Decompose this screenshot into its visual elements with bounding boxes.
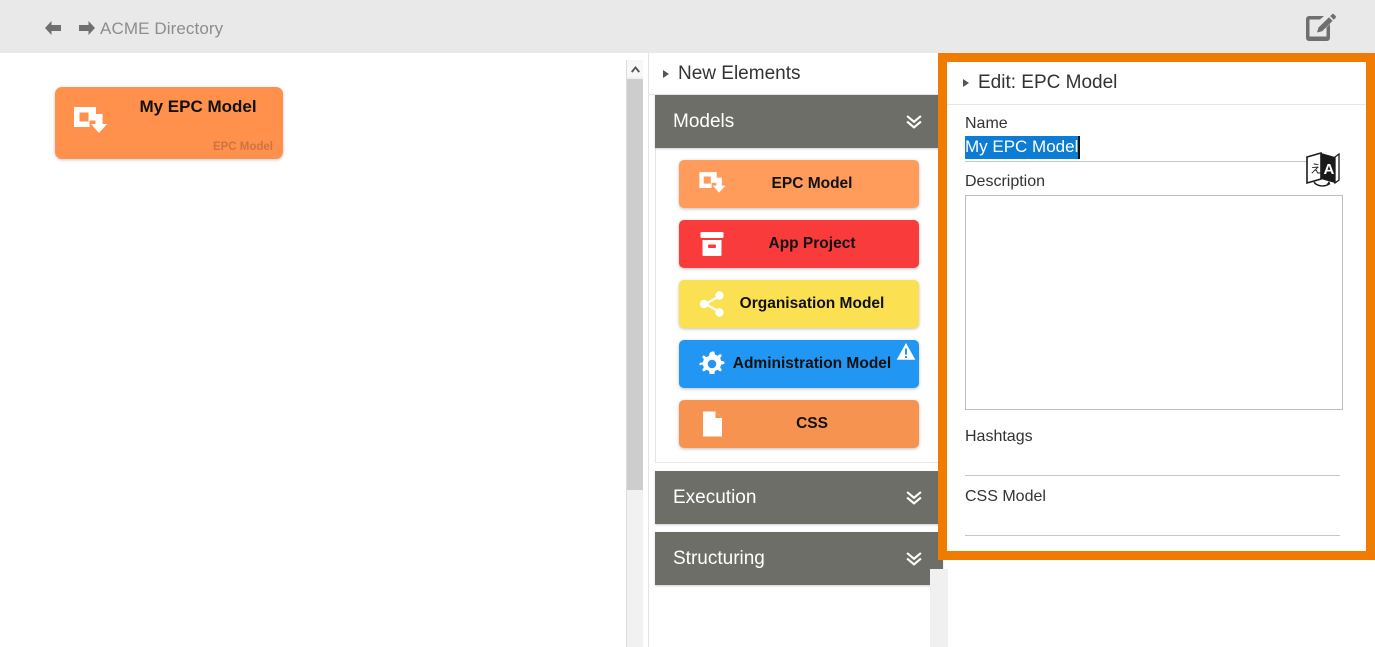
panel-gutter: [930, 569, 948, 647]
share-nodes-icon: [697, 289, 727, 319]
palette-group-models-body: EPC Model App Project: [655, 148, 943, 463]
warning-triangle-icon: [896, 342, 916, 361]
tile-title: My EPC Model: [121, 97, 275, 117]
gear-icon: [697, 349, 727, 379]
triangle-right-icon[interactable]: [663, 70, 669, 78]
tile-subtitle: EPC Model: [213, 141, 273, 153]
palette-item-css[interactable]: CSS: [679, 400, 919, 448]
edit-panel: Edit: EPC Model Name My EPC Model え A: [947, 62, 1366, 551]
hashtags-label: Hashtags: [965, 428, 1348, 446]
breadcrumb[interactable]: ACME Directory: [100, 19, 223, 39]
arrow-left-icon[interactable]: [42, 18, 64, 38]
name-field-row: My EPC Model え A: [965, 133, 1348, 162]
css-model-label: CSS Model: [965, 488, 1348, 506]
double-chevron-down-icon[interactable]: [905, 490, 923, 506]
top-header-bar: ACME Directory: [0, 0, 1375, 53]
epc-model-icon: [697, 169, 727, 199]
panel-title-label: New Elements: [678, 63, 801, 85]
edit-pencil-icon[interactable]: [1303, 13, 1337, 43]
triangle-right-icon[interactable]: [963, 79, 969, 87]
edit-panel-highlight-frame: Edit: EPC Model Name My EPC Model え A: [938, 53, 1375, 560]
css-model-input-underline[interactable]: [965, 535, 1340, 536]
edit-form: Name My EPC Model え A: [947, 105, 1366, 536]
double-chevron-down-icon[interactable]: [905, 114, 923, 130]
scrollbar-thumb[interactable]: [627, 79, 643, 490]
double-chevron-down-icon[interactable]: [905, 551, 923, 567]
arrow-right-icon[interactable]: [76, 18, 98, 38]
name-input-underline: [965, 161, 1310, 162]
palette-group-models[interactable]: Models: [655, 95, 943, 148]
panel-title-new-elements[interactable]: New Elements: [649, 53, 948, 95]
palette-group-label: Execution: [673, 487, 756, 509]
palette-item-app-project[interactable]: App Project: [679, 220, 919, 268]
description-label: Description: [965, 173, 1348, 191]
navigation-arrows: [42, 18, 98, 38]
canvas-vertical-scrollbar[interactable]: [626, 60, 643, 647]
name-label: Name: [965, 115, 1348, 133]
model-canvas[interactable]: My EPC Model EPC Model: [33, 60, 625, 647]
edit-panel-backdrop: [948, 569, 1375, 647]
palette-group-label: Structuring: [673, 548, 765, 570]
epc-model-icon: [71, 103, 109, 141]
application-window: ACME Directory My EPC Model EPC Model: [0, 0, 1375, 647]
palette-item-administration-model[interactable]: Administration Model: [679, 340, 919, 388]
canvas-model-tile[interactable]: My EPC Model EPC Model: [55, 87, 283, 159]
document-page-icon: [697, 409, 727, 439]
chevron-up-icon[interactable]: [627, 60, 643, 77]
edit-panel-title-label: Edit: EPC Model: [978, 72, 1117, 94]
palette-item-epc-model[interactable]: EPC Model: [679, 160, 919, 208]
description-input[interactable]: [965, 195, 1343, 410]
translate-icon[interactable]: え A: [1306, 151, 1340, 189]
svg-text:A: A: [1324, 161, 1335, 178]
palette-group-structuring[interactable]: Structuring: [655, 532, 943, 585]
svg-text:え: え: [1310, 162, 1322, 176]
edit-panel-title[interactable]: Edit: EPC Model: [947, 62, 1366, 105]
new-elements-panel: New Elements Models EPC Model: [648, 53, 948, 647]
archive-box-icon: [697, 229, 727, 259]
palette-group-execution[interactable]: Execution: [655, 471, 943, 524]
palette-item-organisation-model[interactable]: Organisation Model: [679, 280, 919, 328]
hashtags-input-underline[interactable]: [965, 475, 1340, 476]
palette-group-label: Models: [673, 111, 734, 133]
name-input[interactable]: My EPC Model: [965, 136, 1080, 159]
